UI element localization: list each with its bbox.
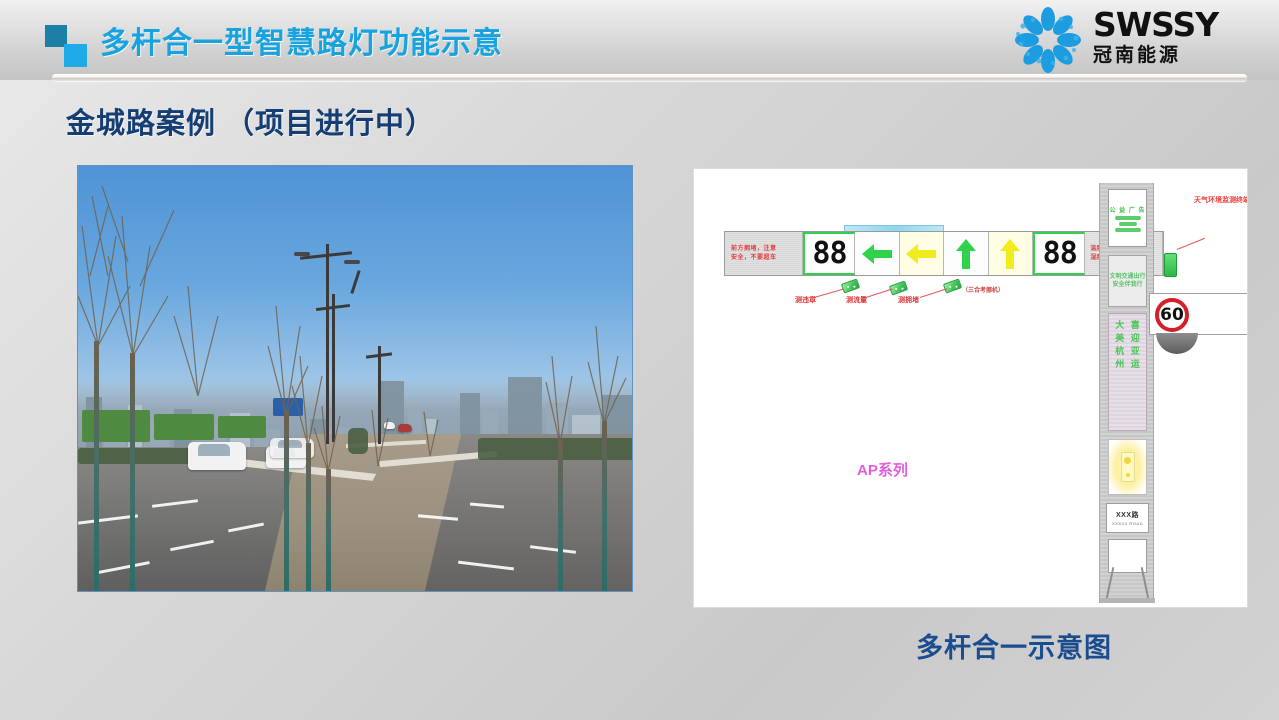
gantry-arrow-up-green [944,232,989,275]
decorative-wave-icon [1119,222,1137,226]
pole-base-plate [1100,598,1155,603]
arrow-up-yellow-icon [997,237,1023,271]
public-service-panel: 公 益 广 告 [1108,189,1147,247]
arrow-up-green-icon [953,237,979,271]
vertical-led-banner: 大 美 杭 州 喜 迎 亚 运 [1108,313,1147,431]
dome-camera-icon [1156,333,1198,354]
sensor-leader-line [1177,238,1205,250]
led-line-1: 前方拥堵，注意 [731,245,802,254]
company-logo: SWSSY 冠南能源 [1009,6,1259,74]
slogan-line-2: 安全伴我行 [1112,281,1142,289]
digit-value-left: 88 [812,239,846,269]
street-name-sign: XXX路 XXXXX ROAD [1106,503,1149,533]
logo-text-block: SWSSY 冠南能源 [1093,8,1259,68]
weather-sensor-icon [1164,253,1177,277]
speed-limit-sign: 60 [1155,298,1189,332]
photo-branches [78,166,633,592]
vtext-char: 喜 [1131,320,1140,330]
gantry-led-message: 前方拥堵，注意 安全，不要超车 [725,232,803,275]
gantry-arrow-up-yellow [989,232,1034,275]
charging-info-panel [1108,439,1147,495]
gantry-digit-right: 88 [1033,232,1085,275]
camera-label-2: 测流量 [846,295,867,305]
slogan-line-1: 文明交通出行 [1109,273,1145,281]
road-photo [77,165,633,592]
camera-label-3: 测拥堵 [898,295,919,305]
led-line-2: 安全，不要超车 [731,254,802,263]
logo-subtitle: 冠南能源 [1093,44,1259,68]
pole-diagram: 前方拥堵，注意 安全，不要超车 88 88 [693,168,1248,608]
street-name: XXX路 [1116,510,1139,520]
gantry-digit-left: 88 [803,232,855,275]
street-name-pinyin: XXXXX ROAD [1112,521,1143,526]
decorative-wave-icon [1115,216,1141,220]
traffic-slogan-panel: 文明交通出行 安全伴我行 [1108,255,1147,307]
vtext-char: 州 [1115,359,1124,369]
vtext-char: 运 [1131,359,1140,369]
weather-sensor-label: 天气环境监测终端 [1194,195,1248,205]
camera-note: （三合考挪机） [962,285,1004,294]
water-drop-flower-icon [1009,6,1087,74]
diagram-caption: 多杆合一示意图 [916,626,1112,665]
page-title: 多杆合一型智慧路灯功能示意 [100,18,503,62]
section-subtitle: 金城路案例 （项目进行中） [66,100,435,142]
gantry-arrow-left-yellow [900,232,945,275]
charging-indicator-icon [1121,452,1135,482]
vtext-char: 美 [1115,333,1124,343]
decorative-squares-icon [45,25,97,67]
header-divider [52,74,1247,81]
gantry-sign-board: 前方拥堵，注意 安全，不要超车 88 88 [724,231,1164,276]
square-light-icon [64,44,87,67]
vtext-char: 亚 [1131,346,1140,356]
smart-pole: 公 益 广 告 文明交通出行 安全伴我行 大 美 杭 州 喜 迎 亚 运 [1099,183,1154,603]
speed-sign-panel: 60 [1149,293,1248,335]
speed-limit-value: 60 [1160,305,1184,325]
vertical-text-left-column: 大 美 杭 州 [1115,320,1124,424]
logo-wordmark: SWSSY [1093,8,1259,42]
vtext-char: 迎 [1131,333,1140,343]
decorative-wave-icon [1115,228,1141,232]
arrow-left-yellow-icon [904,241,938,267]
header-bar: 多杆合一型智慧路灯功能示意 SWSSY [0,0,1279,80]
public-service-title: 公 益 广 告 [1109,205,1145,214]
vertical-text-right-column: 喜 迎 亚 运 [1131,320,1140,424]
camera-icon [842,281,859,292]
arrow-left-green-icon [860,241,894,267]
camera-label-1: 测违章 [795,295,816,305]
digit-value-right: 88 [1043,239,1077,269]
callout-leader-line [866,288,893,298]
vtext-char: 杭 [1115,346,1124,356]
ap-series-label: AP系列 [857,459,908,480]
vtext-char: 大 [1115,320,1124,330]
camera-icon [944,281,961,292]
gantry-arrow-left-green [855,232,900,275]
callout-leader-line [920,288,947,298]
callout-leader-line [814,289,843,298]
